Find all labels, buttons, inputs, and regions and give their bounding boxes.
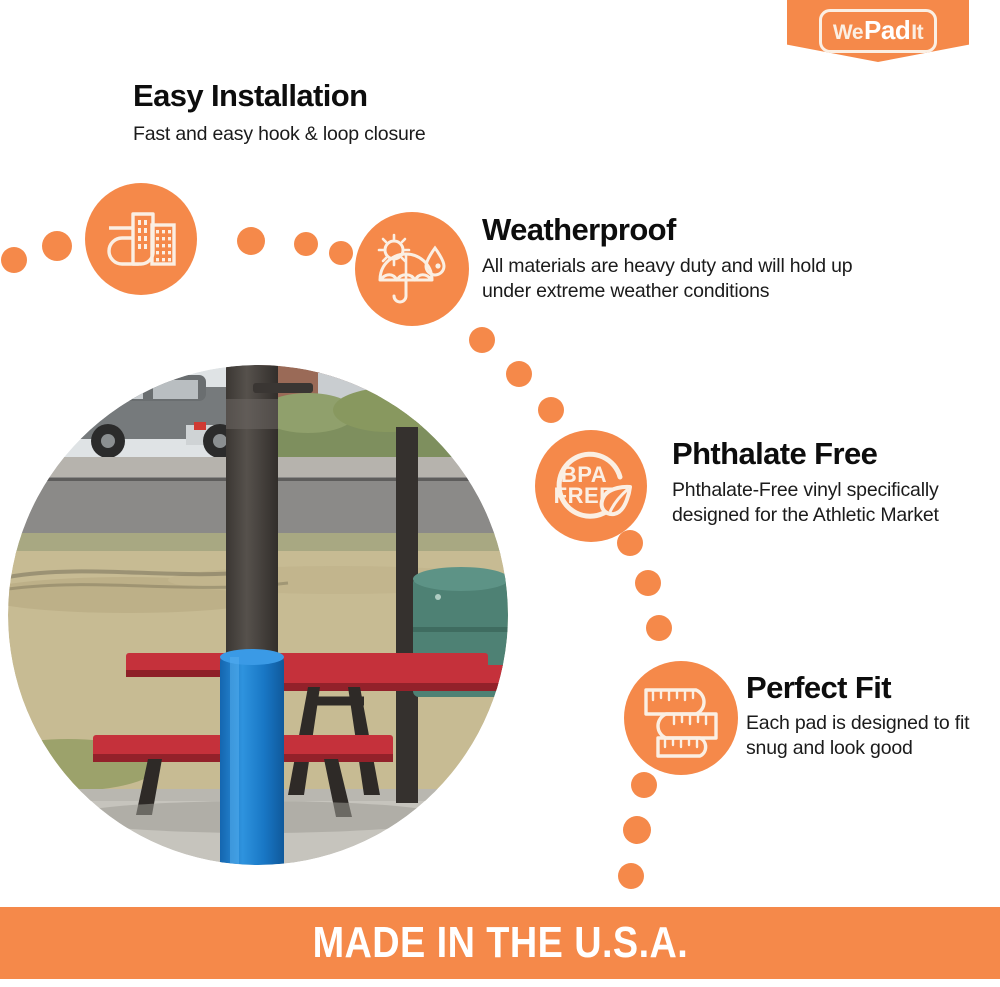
feature-icon-phthalate-free: BPA FREE [535, 430, 647, 542]
brand-logo-it: It [911, 21, 923, 45]
trail-dot [469, 327, 495, 353]
trail-dot [646, 615, 672, 641]
feature-title: Perfect Fit [746, 672, 981, 705]
hook-and-loop-icon [105, 208, 177, 270]
feature-block-perfect-fit: Perfect Fit Each pad is designed to fit … [746, 672, 981, 762]
measuring-tape-icon [638, 678, 724, 758]
feature-description: Phthalate-Free vinyl specifically design… [672, 478, 962, 530]
trail-dot [623, 816, 651, 844]
product-photo-scene [8, 365, 508, 865]
feature-icon-perfect-fit [624, 661, 738, 775]
feature-title: Weatherproof [482, 214, 902, 247]
brand-logo-pad: Pad [864, 15, 910, 46]
brand-logo-we: We [833, 21, 863, 45]
brand-logo-banner: We Pad It [787, 0, 969, 62]
feature-icon-weatherproof [355, 212, 469, 326]
feature-description: All materials are heavy duty and will ho… [482, 254, 902, 306]
trail-dot [617, 530, 643, 556]
bpa-free-leaf-icon: BPA FREE [544, 439, 638, 533]
trail-dot [329, 241, 353, 265]
trail-dot [237, 227, 265, 255]
feature-title: Easy Installation [133, 80, 603, 113]
trail-dot [42, 231, 72, 261]
trail-dot [506, 361, 532, 387]
infographic-root: We Pad It Easy Installation Fast and eas… [0, 0, 1000, 987]
feature-icon-easy-installation [85, 183, 197, 295]
trail-dot [538, 397, 564, 423]
product-photo [8, 365, 508, 865]
trail-dot [1, 247, 27, 273]
trail-dot [631, 772, 657, 798]
feature-title: Phthalate Free [672, 438, 962, 471]
brand-logo-frame: We Pad It [819, 9, 937, 53]
sun-umbrella-raindrop-icon [372, 232, 452, 306]
made-in-usa-banner: MADE IN THE U.S.A. [0, 907, 1000, 979]
trail-dot [618, 863, 644, 889]
feature-block-easy-installation: Easy Installation Fast and easy hook & l… [133, 80, 603, 147]
trail-dot [635, 570, 661, 596]
trail-dot [294, 232, 318, 256]
feature-description: Each pad is designed to fit snug and loo… [746, 711, 981, 763]
made-in-usa-text: MADE IN THE U.S.A. [312, 918, 688, 968]
feature-block-phthalate-free: Phthalate Free Phthalate-Free vinyl spec… [672, 438, 962, 529]
feature-description: Fast and easy hook & loop closure [133, 122, 603, 148]
feature-block-weatherproof: Weatherproof All materials are heavy dut… [482, 214, 902, 305]
